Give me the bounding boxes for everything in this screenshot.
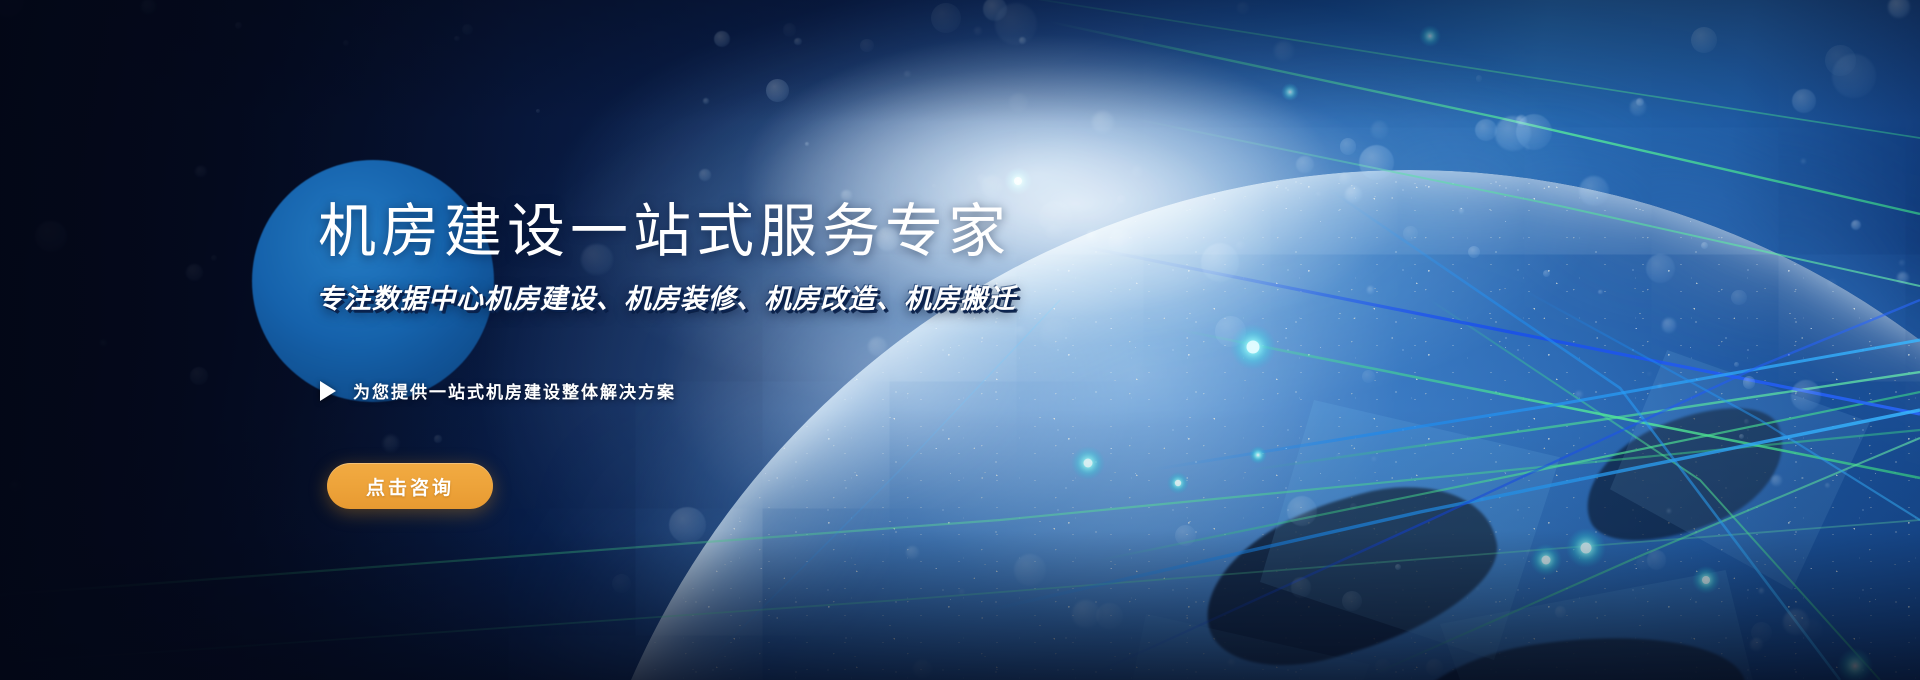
hero-subtitle: 专注数据中心机房建设、机房装修、机房改造、机房搬迁 bbox=[316, 283, 1016, 315]
page-title: 机房建设一站式服务专家 bbox=[318, 198, 1011, 266]
play-triangle-icon bbox=[320, 381, 336, 401]
hero-bullet: 为您提供一站式机房建设整体解决方案 bbox=[320, 378, 676, 403]
hero-banner: 机房建设一站式服务专家 专注数据中心机房建设、机房装修、机房改造、机房搬迁 为您… bbox=[0, 0, 1920, 680]
hero-content: 机房建设一站式服务专家 专注数据中心机房建设、机房装修、机房改造、机房搬迁 为您… bbox=[0, 0, 1920, 680]
hero-bullet-label: 为您提供一站式机房建设整体解决方案 bbox=[353, 378, 676, 403]
consult-button[interactable]: 点击咨询 bbox=[327, 463, 493, 509]
